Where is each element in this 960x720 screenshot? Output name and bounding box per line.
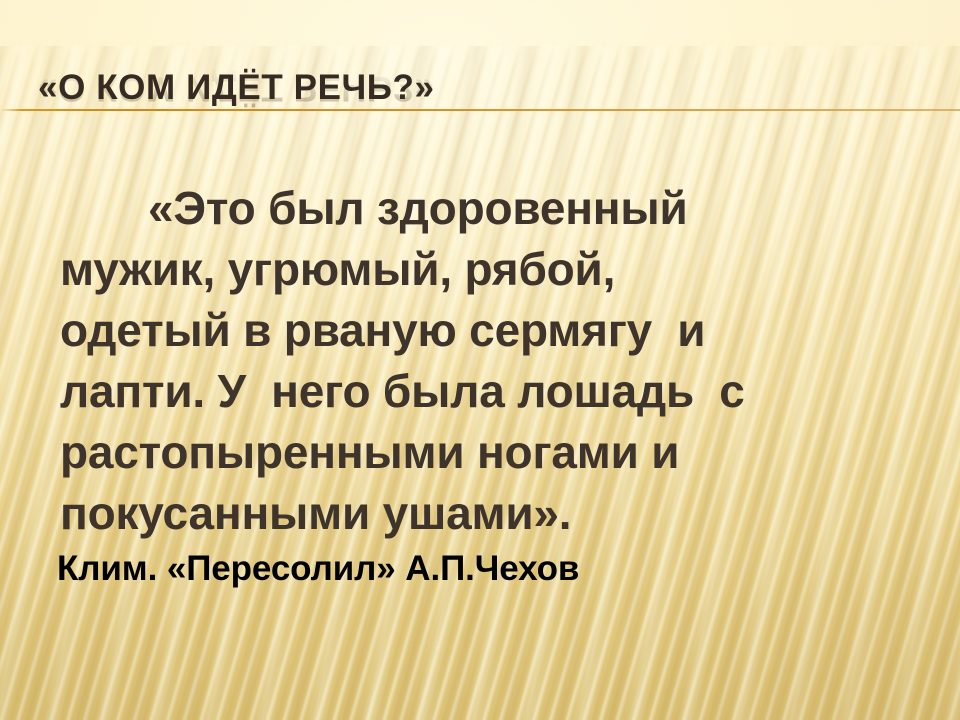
quote-line: одетый в рваную сермягу и (60, 300, 900, 361)
slide-canvas: «О КОМ ИДЁТ РЕЧЬ?» «О КОМ ИДЁТ РЕЧЬ?» «Э… (0, 0, 960, 720)
quote-line: покусанными ушами». (60, 483, 900, 544)
quote-text-block: «Это был здоровенный мужик, угрюмый, ряб… (60, 178, 900, 544)
quote-line: лапти. У него была лошадь с (60, 361, 900, 422)
quote-line: растопыренными ногами и (60, 422, 900, 483)
title-underline-rule (0, 109, 960, 111)
quote-line: мужик, угрюмый, рябой, (60, 239, 900, 300)
slide-title-block: «О КОМ ИДЁТ РЕЧЬ?» «О КОМ ИДЁТ РЕЧЬ?» (0, 66, 960, 146)
slide-title: «О КОМ ИДЁТ РЕЧЬ?» (38, 66, 435, 110)
quote-line: «Это был здоровенный (60, 178, 900, 239)
quote-attribution: Клим. «Пересолил» А.П.Чехов (57, 549, 579, 589)
